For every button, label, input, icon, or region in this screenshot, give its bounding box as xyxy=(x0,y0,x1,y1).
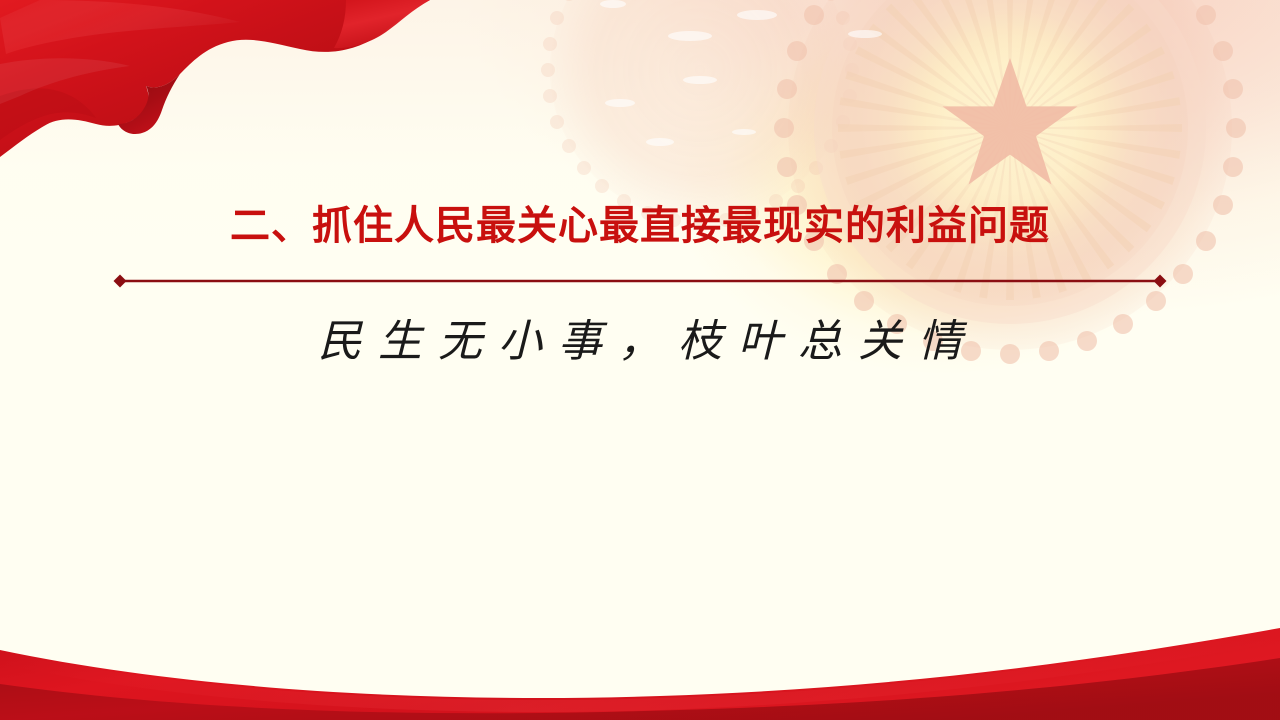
divider-diamond-right xyxy=(1154,275,1167,288)
subtitle-calligraphy: 民生无小事，枝叶总关情 xyxy=(0,310,1280,374)
divider-diamond-left xyxy=(114,275,127,288)
bottom-wave-decoration xyxy=(0,600,1280,720)
page-title: 二、抓住人民最关心最直接最现实的利益问题 xyxy=(0,200,1280,252)
slide-canvas: 二、抓住人民最关心最直接最现实的利益问题 民生无小事，枝叶总关情 xyxy=(0,0,1280,720)
title-divider xyxy=(110,274,1170,288)
